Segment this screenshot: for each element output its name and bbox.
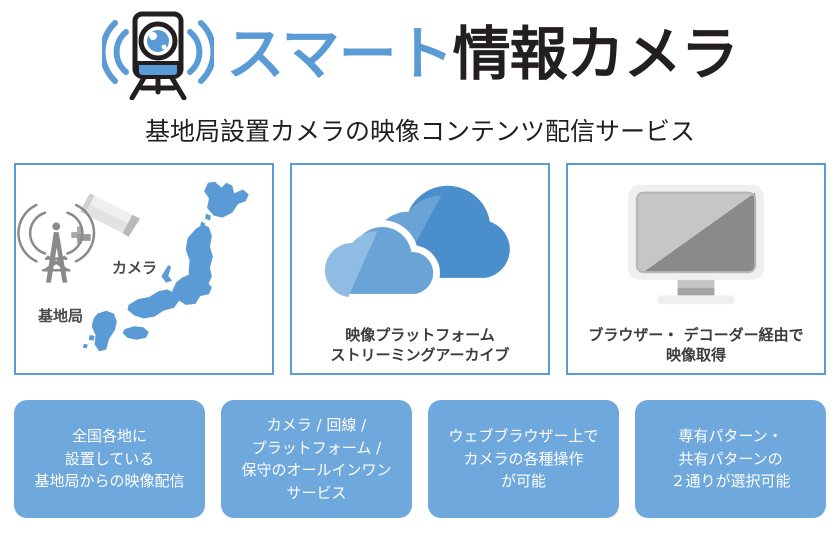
logo-wordmark: スマート 情報カメラ	[226, 25, 737, 83]
note-box-browser-control: ウェブブラウザー上で カメラの各種操作 が可能	[428, 400, 619, 518]
note-box-browser-control-text: ウェブブラウザー上で カメラの各種操作 が可能	[448, 425, 598, 493]
panel-row: 基地局 カメラ 映像プラットフォーム ストリーミングアーカイブ	[14, 163, 826, 375]
note-box-patterns: 専有パターン・ 共有パターンの ２通りが選択可能	[635, 400, 826, 518]
panel-capture: 基地局 カメラ	[14, 163, 274, 375]
panel-platform: 映像プラットフォーム ストリーミングアーカイブ	[290, 163, 550, 375]
base-station-label: 基地局	[38, 305, 83, 326]
camera-label: カメラ	[112, 257, 157, 278]
note-box-row: 全国各地に 設置している 基地局からの映像配信 カメラ / 回線 / プラットフ…	[14, 400, 826, 518]
panel-viewing-caption-line2: 映像取得	[568, 345, 824, 365]
logo: スマート 情報カメラ	[102, 8, 737, 100]
panel-platform-caption-line1: 映像プラットフォーム	[292, 325, 548, 345]
note-box-allinone-text: カメラ / 回線 / プラットフォーム / 保守のオールインワン サービス	[241, 414, 391, 504]
note-box-patterns-text: 専有パターン・ 共有パターンの ２通りが選択可能	[670, 425, 790, 493]
logo-text-dark: 情報カメラ	[453, 25, 738, 83]
note-box-nationwide-text: 全国各地に 設置している 基地局からの映像配信	[34, 425, 184, 493]
subtitle: 基地局設置カメラの映像コンテンツ配信サービス	[0, 112, 840, 148]
cloud-icon	[292, 167, 548, 317]
base-station-tower-mast	[42, 222, 70, 282]
panel-viewing: ブラウザー・ デコーダー経由で 映像取得	[566, 163, 826, 375]
panel-viewing-caption-line1: ブラウザー・ デコーダー経由で	[568, 325, 824, 345]
smart-camera-logo-icon	[102, 8, 214, 100]
note-box-nationwide: 全国各地に 設置している 基地局からの映像配信	[14, 400, 205, 518]
monitor-icon	[568, 179, 824, 309]
panel-viewing-caption: ブラウザー・ デコーダー経由で 映像取得	[568, 325, 824, 366]
header: スマート 情報カメラ	[0, 0, 840, 108]
panel-platform-caption: 映像プラットフォーム ストリーミングアーカイブ	[292, 325, 548, 366]
panel-platform-caption-line2: ストリーミングアーカイブ	[292, 345, 548, 365]
note-box-allinone: カメラ / 回線 / プラットフォーム / 保守のオールインワン サービス	[221, 400, 412, 518]
logo-text-blue: スマート	[226, 25, 452, 83]
